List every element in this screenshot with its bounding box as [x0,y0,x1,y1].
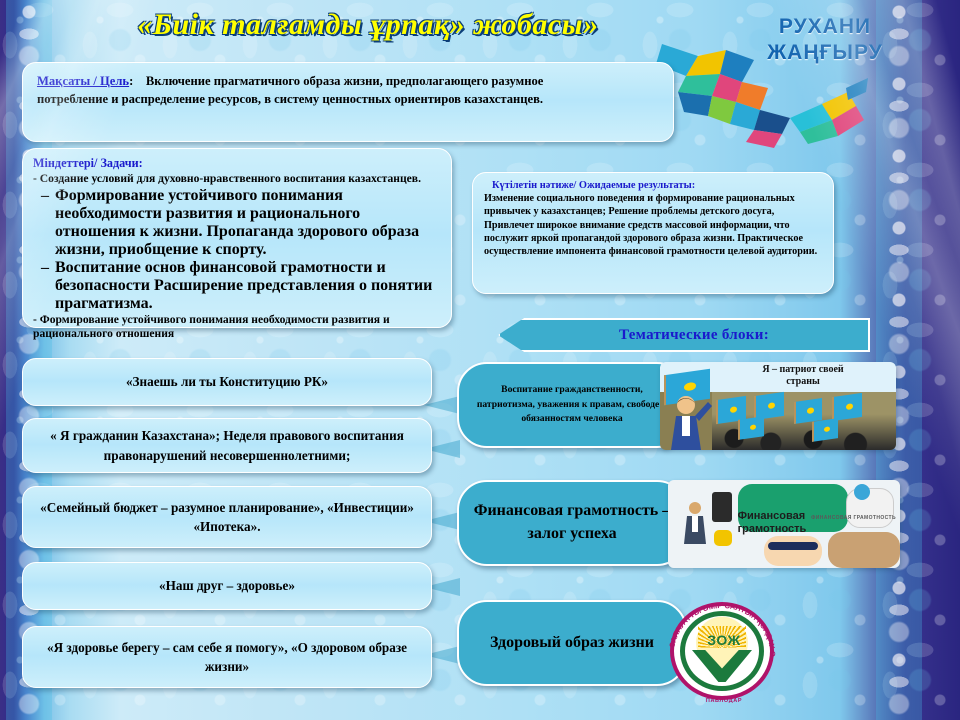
list-item[interactable]: «Знаешь ли ты Конституцию РК» [22,358,432,406]
task-bullet: – [41,259,49,313]
task-bullet: – [41,187,49,259]
emblem-word: ЗОЖ [664,632,784,648]
financial-literacy-small-caption: ФИНАНСОВАЯ ГРАМОТНОСТЬ [811,515,896,521]
chart-card-shape [846,488,894,528]
page-title: «Биік талғамды ұрпақ» жобасы» [58,8,678,42]
list-item[interactable]: « Я гражданин Казахстана»; Неделя правов… [22,418,432,473]
caption-line-2: грамотность [738,523,807,536]
patriot-photo-content: Я – патриот своей страны [660,362,896,450]
globe-icon [854,484,870,500]
goal-first-line: Мақсаты / Цель: Включение прагматичного … [37,72,659,90]
list-item[interactable]: «Я здоровье берегу – сам себе я помогу»,… [22,626,432,688]
presentation-slide: «Биік талғамды ұрпақ» жобасы» РУХАНИ ЖАҢ… [0,0,960,720]
caption-line-1: Финансовая [738,510,807,523]
financial-literacy-photo: Финансовая грамотность ФИНАНСОВАЯ ГРАМОТ… [668,480,900,568]
task-item: - Формирование устойчивого понимания нео… [33,313,441,342]
goal-text-line-2: потребление и распределение ресурсов, в … [37,90,659,108]
money-bag-icon [714,530,732,546]
thematic-block-text: Финансовая грамотность – залог успеха [471,500,673,545]
businessman-icon [682,500,708,544]
list-item[interactable]: «Семейный бюджет – разумное планирование… [22,486,432,548]
goal-label: Мақсаты / Цель [37,74,129,88]
thematic-block-citizenship[interactable]: Воспитание гражданственности, патриотизм… [457,362,687,448]
thematic-block-financial-literacy[interactable]: Финансовая грамотность – залог успеха [457,480,687,566]
thematic-blocks-banner: Тематические блоки: [498,318,870,352]
topic-text: «Наш друг – здоровье» [159,576,295,595]
topic-text: «Я здоровье берегу – сам себе я помогу»,… [39,638,415,676]
calculator-icon [712,492,732,522]
goal-colon: : [129,74,133,88]
task-item: – Формирование устойчивого понимания нео… [33,187,441,259]
task-text: Создание условий для духовно-нравственно… [40,172,421,185]
expected-results-card: Күтілетін нәтиже/ Ожидаемые результаты: … [472,172,834,294]
goal-card: Мақсаты / Цель: Включение прагматичного … [22,62,674,142]
task-text: Формирование устойчивого понимания необх… [33,313,390,341]
financial-literacy-caption: Финансовая грамотность [738,510,807,535]
results-text: Изменение социального поведения и формир… [484,192,822,258]
caption-line-1: Я – патриот своей [718,364,888,376]
task-bullet: - [33,172,37,185]
results-heading: Күтілетін нәтиже/ Ожидаемые результаты: [484,180,822,191]
thematic-block-text: Воспитание гражданственности, патриотизм… [475,383,669,426]
patriot-photo-caption: Я – патриот своей страны [718,364,888,387]
patriot-photo: Я – патриот своей страны [660,362,896,450]
ruhani-zhangyru-logo: РУХАНИ ЖАҢҒЫРУ [646,4,936,154]
topic-text: «Знаешь ли ты Конституцию РК» [126,372,328,391]
graduation-cap-icon [768,542,818,550]
books-shape [764,536,822,566]
desk-shape [828,532,900,568]
emblem-city: ПАВЛОДАР [664,698,784,704]
financial-literacy-photo-content: Финансовая грамотность ФИНАНСОВАЯ ГРАМОТ… [668,480,900,568]
task-text: Формирование устойчивого понимания необх… [55,187,441,259]
ruhani-zhangyru-text: РУХАНИ ЖАҢҒЫРУ [730,14,920,65]
topic-text: « Я гражданин Казахстана»; Неделя правов… [39,426,415,464]
task-item: - Создание условий для духовно-нравствен… [33,172,441,187]
topic-text: «Семейный бюджет – разумное планирование… [39,498,415,536]
thematic-block-healthy-lifestyle[interactable]: Здоровый образ жизни [457,600,687,686]
thematic-blocks-label: Тематические блоки: [599,327,769,344]
task-item: – Воспитание основ финансовой грамотност… [33,259,441,313]
thematic-block-text: Здоровый образ жизни [490,632,654,655]
list-item[interactable]: «Наш друг – здоровье» [22,562,432,610]
zozh-emblem: САЛАУАТТЫ ӨМІР САЛТЫН ҚОЛДАУ ОРТАЛЫҒЫ ЗО… [664,596,784,706]
task-bullet: - [33,313,37,326]
tasks-card: Міндеттері/ Задачи: - Создание условий д… [22,148,452,328]
boy-figure-icon [666,392,712,450]
brand-line-1: РУХАНИ [730,14,920,40]
caption-line-2: страны [718,376,888,388]
task-text: Воспитание основ финансовой грамотности … [55,259,441,313]
brand-line-2: ЖАҢҒЫРУ [730,40,920,66]
tasks-heading: Міндеттері/ Задачи: [33,156,441,171]
zozh-emblem-content: САЛАУАТТЫ ӨМІР САЛТЫН ҚОЛДАУ ОРТАЛЫҒЫ ЗО… [664,596,784,706]
crowd-with-flags [712,392,896,450]
goal-text-line-1: Включение прагматичного образа жизни, пр… [146,74,543,88]
